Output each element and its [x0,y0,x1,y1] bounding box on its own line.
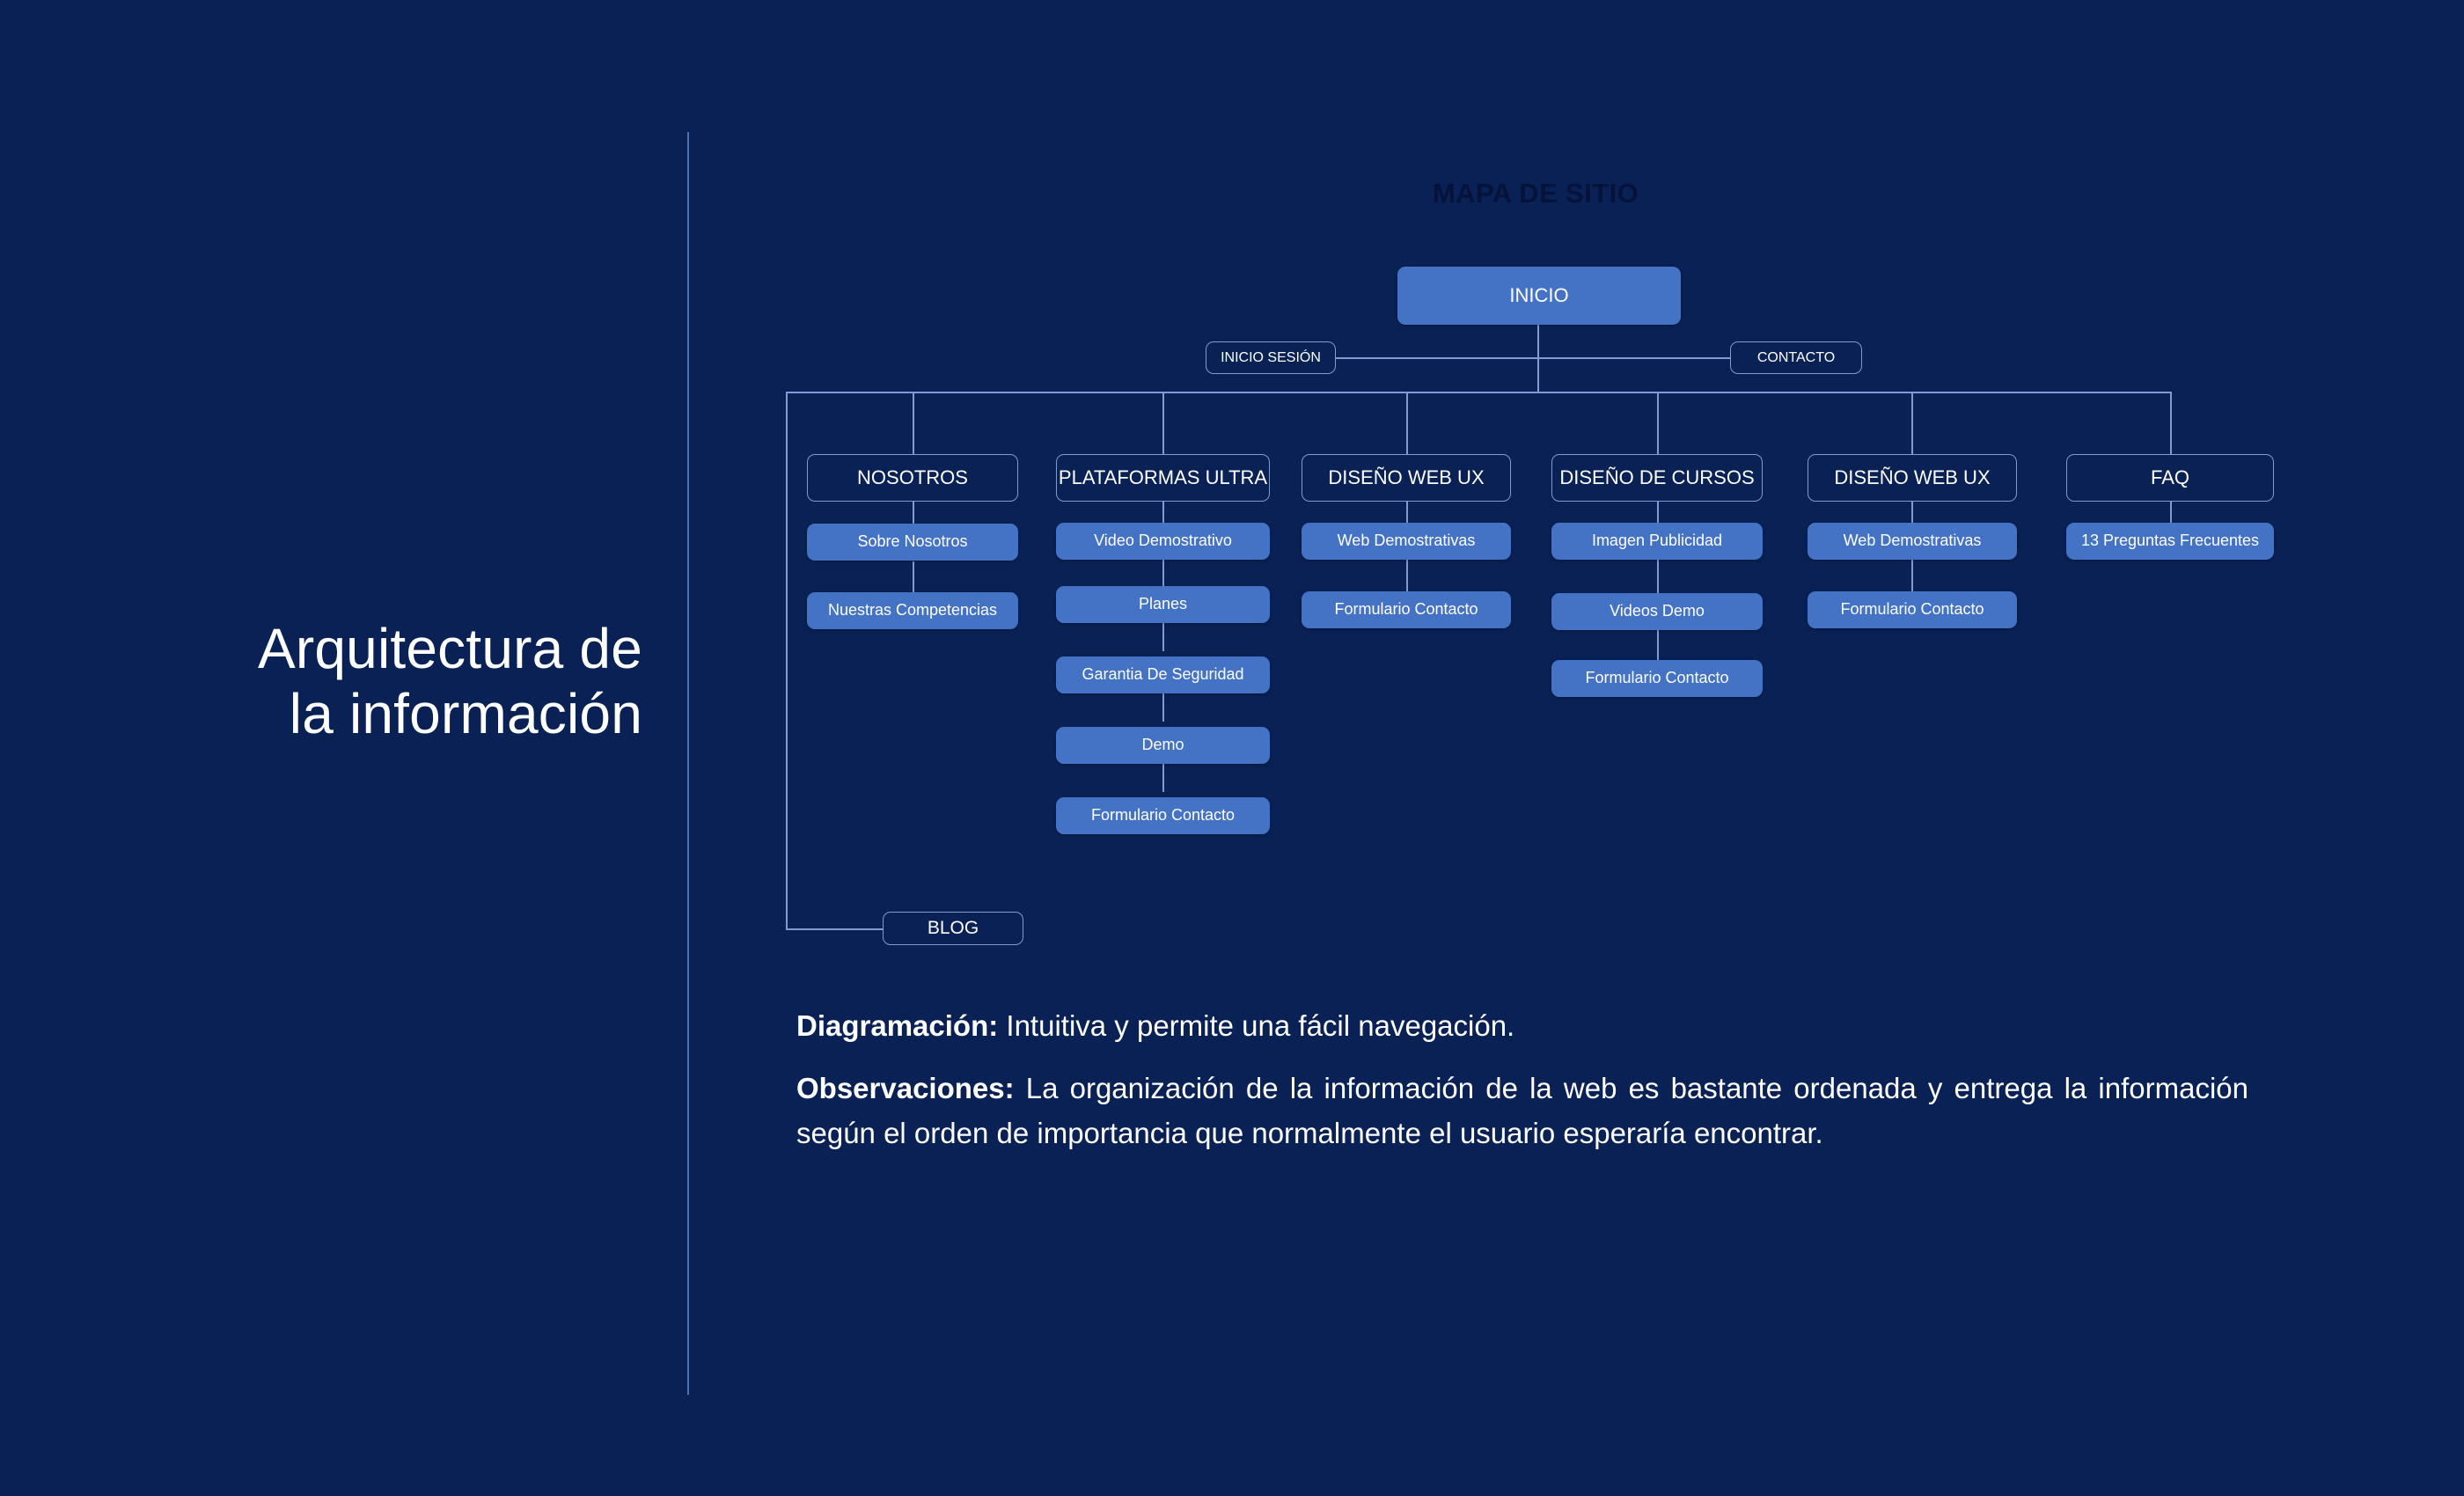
node-videos-demo[interactable]: Videos Demo [1551,593,1763,630]
node-web-demostrativas-col3[interactable]: Web Demostrativas [1302,523,1511,560]
slide-root: Arquitectura de la información MAPA DE S… [0,0,2464,1496]
node-web-demostrativas-col5[interactable]: Web Demostrativas [1808,523,2017,560]
node-header-faq[interactable]: FAQ [2066,454,2274,502]
note-diagramacion-text: Intuitiva y permite una fácil navegación… [998,1009,1514,1042]
node-inicio[interactable]: INICIO [1397,267,1681,325]
connector-side-horizontal [1336,357,1730,359]
node-header-nosotros[interactable]: NOSOTROS [807,454,1018,502]
connector-blog-rail [786,392,788,929]
note-diagramacion-label: Diagramación: [796,1009,998,1042]
slide-title-line-1: Arquitectura de [79,616,642,681]
connector-col4-stem-2 [1657,560,1659,595]
connector-col2-stem-4 [1162,693,1164,722]
node-formulario-contacto-col2[interactable]: Formulario Contacto [1056,797,1270,834]
connector-drop-col-4 [1657,392,1659,454]
connector-col5-stem-1 [1911,502,1913,524]
connector-col4-stem-1 [1657,502,1659,523]
connector-blog-horizontal [786,928,883,930]
connector-drop-col-2 [1162,392,1164,454]
node-formulario-contacto-col5[interactable]: Formulario Contacto [1808,591,2017,628]
slide-title-line-2: la información [79,681,642,746]
note-observaciones-label: Observaciones: [796,1072,1015,1104]
connector-col1-stem-1 [913,502,914,524]
connector-col2-stem-5 [1162,764,1164,792]
connector-col2-stem-1 [1162,502,1164,524]
node-garantia-de-seguridad[interactable]: Garantia De Seguridad [1056,656,1270,693]
connector-col4-stem-3 [1657,630,1659,662]
note-observaciones: Observaciones: La organización de la inf… [796,1066,2248,1155]
connector-col3-stem-1 [1406,502,1408,524]
connector-drop-col-3 [1406,392,1408,454]
vertical-divider [687,132,689,1395]
connector-col2-stem-3 [1162,623,1164,651]
connector-drop-col-5 [1911,392,1913,454]
slide-title: Arquitectura de la información [79,616,642,746]
connector-col2-stem-2 [1162,560,1164,588]
notes-block: Diagramación: Intuitiva y permite una fá… [796,1003,2248,1173]
note-observaciones-text: La organización de la información de la … [796,1072,2248,1149]
node-planes[interactable]: Planes [1056,586,1270,623]
node-header-diseno-web-ux-1[interactable]: DISEÑO WEB UX [1302,454,1511,502]
node-13-preguntas-frecuentes[interactable]: 13 Preguntas Frecuentes [2066,523,2274,560]
node-inicio-sesion[interactable]: INICIO SESIÓN [1206,341,1336,374]
node-imagen-publicidad[interactable]: Imagen Publicidad [1551,523,1763,560]
node-demo[interactable]: Demo [1056,727,1270,764]
node-formulario-contacto-col4[interactable]: Formulario Contacto [1551,660,1763,697]
connector-drop-col-6 [2170,392,2172,454]
connector-col1-stem-2 [913,561,914,597]
connector-main-bus [786,392,2172,393]
node-header-diseno-de-cursos[interactable]: DISEÑO DE CURSOS [1551,454,1763,502]
connector-drop-col-1 [913,392,914,454]
connector-col6-stem-1 [2170,502,2172,524]
node-header-diseno-web-ux-2[interactable]: DISEÑO WEB UX [1808,454,2017,502]
node-formulario-contacto-col3[interactable]: Formulario Contacto [1302,591,1511,628]
node-contacto[interactable]: CONTACTO [1730,341,1862,374]
diagram-title: MAPA DE SITIO [1316,178,1756,209]
note-diagramacion: Diagramación: Intuitiva y permite una fá… [796,1003,2248,1048]
node-header-plataformas-ultra[interactable]: PLATAFORMAS ULTRA [1056,454,1270,502]
node-blog[interactable]: BLOG [883,912,1023,945]
node-sobre-nosotros[interactable]: Sobre Nosotros [807,524,1018,561]
node-nuestras-competencias[interactable]: Nuestras Competencias [807,592,1018,629]
node-video-demostrativo[interactable]: Video Demostrativo [1056,523,1270,560]
